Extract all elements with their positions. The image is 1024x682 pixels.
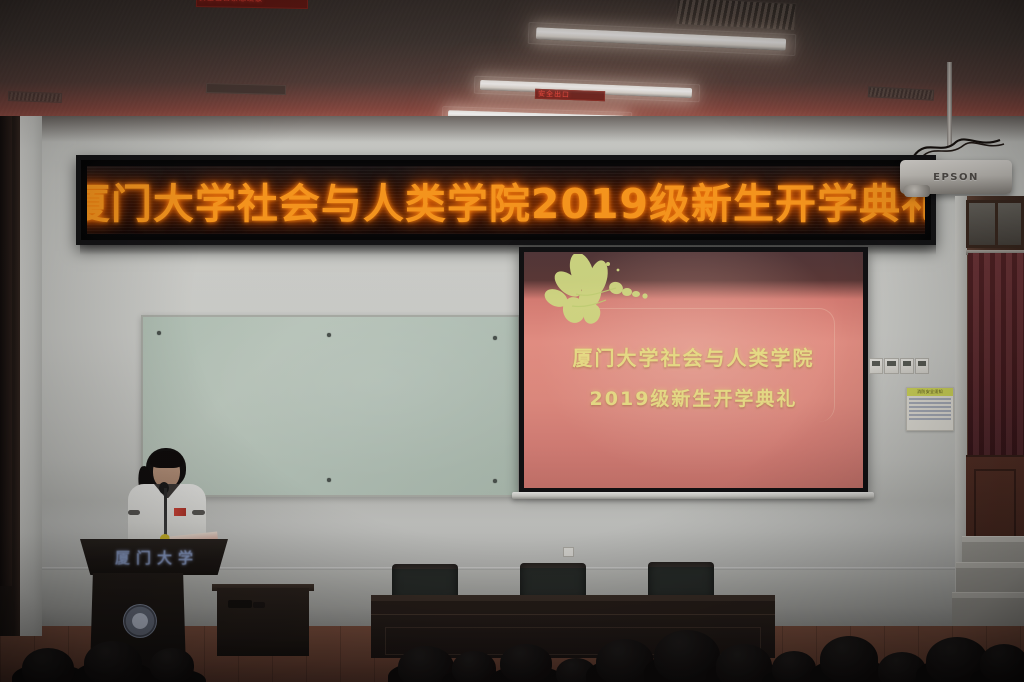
screen-bottom-bar <box>512 492 874 499</box>
podium-char-4: 学 <box>178 547 193 568</box>
audience-head <box>22 648 74 682</box>
speaker-hair-front <box>150 451 183 468</box>
podium-char-2: 门 <box>136 547 151 568</box>
board-screw <box>327 478 331 482</box>
wall-notice-sign: 消防安全须知 <box>906 387 954 431</box>
floral-decoration-icon <box>532 254 672 338</box>
step <box>956 562 1024 592</box>
board-screw <box>493 336 497 340</box>
notice-text-line <box>909 414 951 416</box>
lecture-hall-photo: 安全出口紧急疏散 安全出口 禁止吸烟注意安全 厦门大学社会与人类学院2019级新… <box>0 0 1024 682</box>
notice-text-line <box>909 418 951 420</box>
slide-title-line2: 2019级新生开学典礼 <box>524 384 863 411</box>
board-screw <box>493 479 497 483</box>
audience-head <box>980 644 1024 682</box>
speaker-badge <box>174 508 186 516</box>
cabinet-equipment-1 <box>228 600 252 608</box>
notice-text-line <box>909 402 951 404</box>
wall-notice-header-text: 消防安全须知 <box>917 390 943 394</box>
audience-head <box>500 644 552 682</box>
light-switch-2[interactable] <box>884 358 898 374</box>
projector-mount-pole <box>947 62 952 146</box>
audience-head <box>84 641 142 682</box>
light-switch-1[interactable] <box>869 358 883 374</box>
wall-outlet-icon <box>563 547 574 557</box>
podium-char-3: 大 <box>157 547 172 568</box>
podium-char-1: 厦 <box>115 547 130 568</box>
projector-brand-label: EPSON <box>933 172 979 183</box>
led-banner-screen: 厦门大学社会与人类学院2019级新生开学典礼 <box>87 166 925 234</box>
led-banner: 厦门大学社会与人类学院2019级新生开学典礼 <box>76 155 936 245</box>
speaker-sleeve-right <box>192 510 205 515</box>
emergency-exit-sign-1-text: 安全出口紧急疏散 <box>197 0 307 5</box>
projection-screen: 厦门大学社会与人类学院 2019级新生开学典礼 <box>519 247 868 493</box>
audience-head <box>150 648 194 682</box>
light-switch-panel[interactable] <box>869 358 929 374</box>
notice-text-line <box>909 410 951 412</box>
left-wall-pillar <box>20 116 42 636</box>
ceiling-notice-sign: 禁止吸烟注意安全 <box>206 83 286 95</box>
cabinet-equipment-2 <box>253 602 265 608</box>
speaker-person <box>112 448 220 548</box>
wall-notice-header: 消防安全须知 <box>907 388 953 396</box>
slide-title-line1: 厦门大学社会与人类学院 <box>524 342 863 371</box>
notice-text-line <box>909 398 951 400</box>
board-screw <box>157 331 161 335</box>
board-screw <box>327 333 331 337</box>
podium-lettering: 厦 门 大 学 <box>80 545 228 569</box>
notice-text-line <box>909 406 951 408</box>
red-curtain <box>968 253 1024 463</box>
presentation-slide: 厦门大学社会与人类学院 2019级新生开学典礼 <box>524 252 863 488</box>
wall-notice-body <box>907 396 953 424</box>
projector-lens-icon <box>904 185 930 197</box>
step <box>962 536 1024 562</box>
door-transom-window <box>966 200 1024 248</box>
light-switch-4[interactable] <box>915 358 929 374</box>
audience <box>0 612 1024 682</box>
light-switch-3[interactable] <box>900 358 914 374</box>
led-banner-text: 厦门大学社会与人类学院2019级新生开学典礼 <box>87 170 925 230</box>
wall-top-shadow <box>0 116 1024 142</box>
left-doorway-dark <box>0 116 12 586</box>
speaker-sleeve-left <box>128 510 140 515</box>
ac-vent-left-icon <box>8 91 62 103</box>
ceiling: 安全出口紧急疏散 安全出口 禁止吸烟注意安全 <box>0 0 1024 132</box>
